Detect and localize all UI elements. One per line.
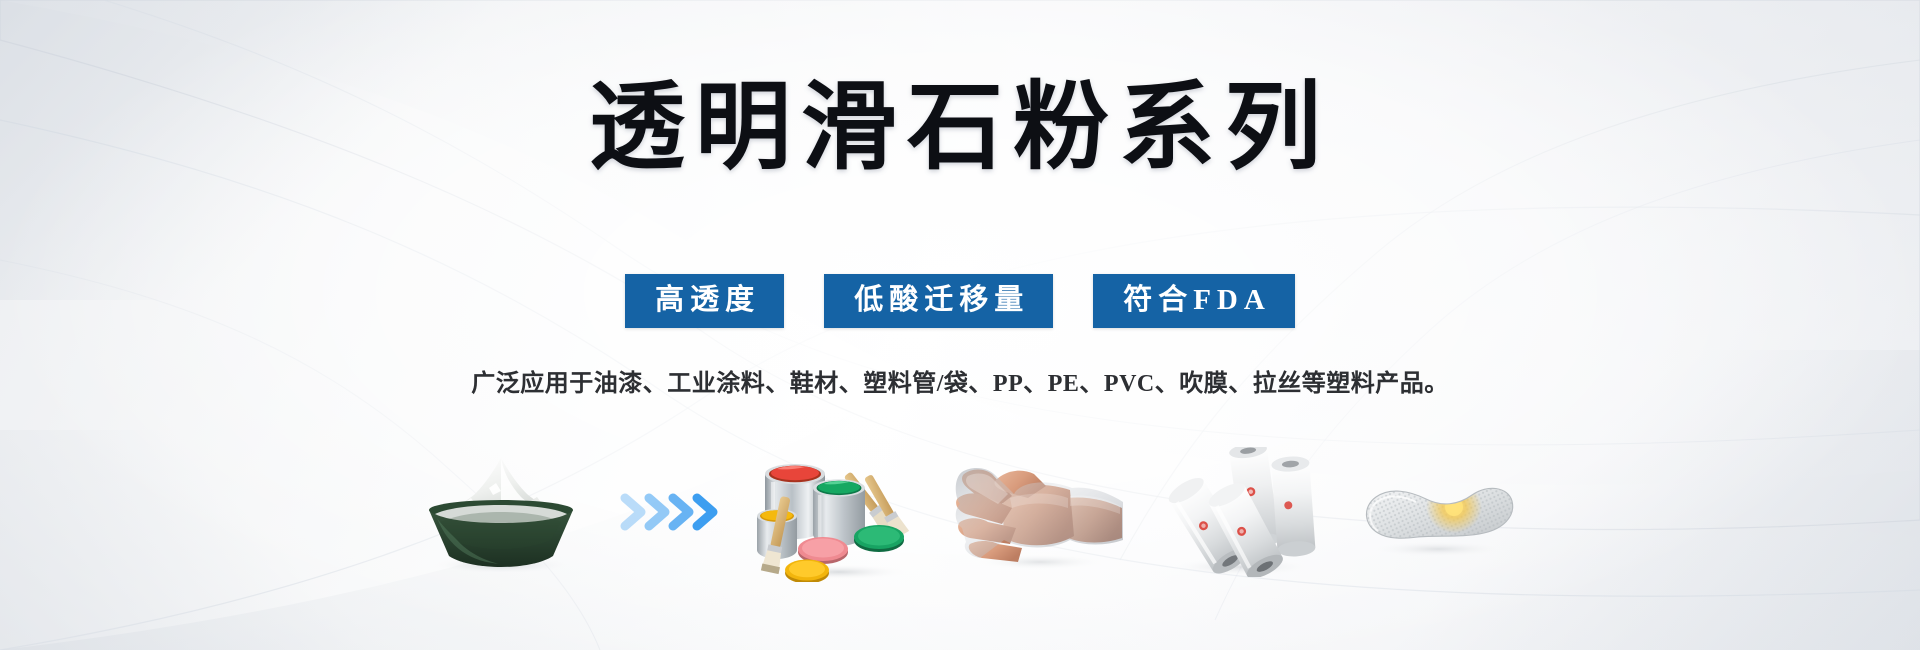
shoe-insole-icon	[1354, 457, 1519, 567]
product-item-process-arrows	[609, 442, 741, 582]
product-item-paint-cans	[741, 442, 936, 582]
feature-badge-high-transparency: 高透度	[625, 274, 784, 328]
gloved-hand-icon	[950, 452, 1125, 572]
product-image-strip	[0, 432, 1920, 592]
feature-badge-fda-compliant: 符合FDA	[1093, 274, 1295, 328]
film-rolls-icon	[1153, 447, 1328, 577]
product-item-film-rolls	[1139, 442, 1342, 582]
product-banner: 透明滑石粉系列 高透度 低酸迁移量 符合FDA 广泛应用于油漆、工业涂料、鞋材、…	[0, 0, 1920, 650]
feature-badge-low-acid-migration: 低酸迁移量	[824, 274, 1053, 328]
application-description: 广泛应用于油漆、工业涂料、鞋材、塑料管/袋、PP、PE、PVC、吹膜、拉丝等塑料…	[0, 363, 1920, 398]
talc-powder-bowl-icon	[401, 452, 601, 572]
product-item-gloved-hand	[936, 442, 1139, 582]
paint-cans-icon	[751, 442, 926, 582]
feature-badge-group: 高透度 低酸迁移量 符合FDA	[0, 274, 1920, 328]
banner-content: 透明滑石粉系列 高透度 低酸迁移量 符合FDA 广泛应用于油漆、工业涂料、鞋材、…	[0, 0, 1920, 650]
product-item-talc-powder	[401, 442, 609, 582]
product-item-shoe-insole	[1342, 442, 1519, 582]
page-title: 透明滑石粉系列	[0, 78, 1920, 179]
chevron-right-arrows-icon	[615, 482, 735, 542]
